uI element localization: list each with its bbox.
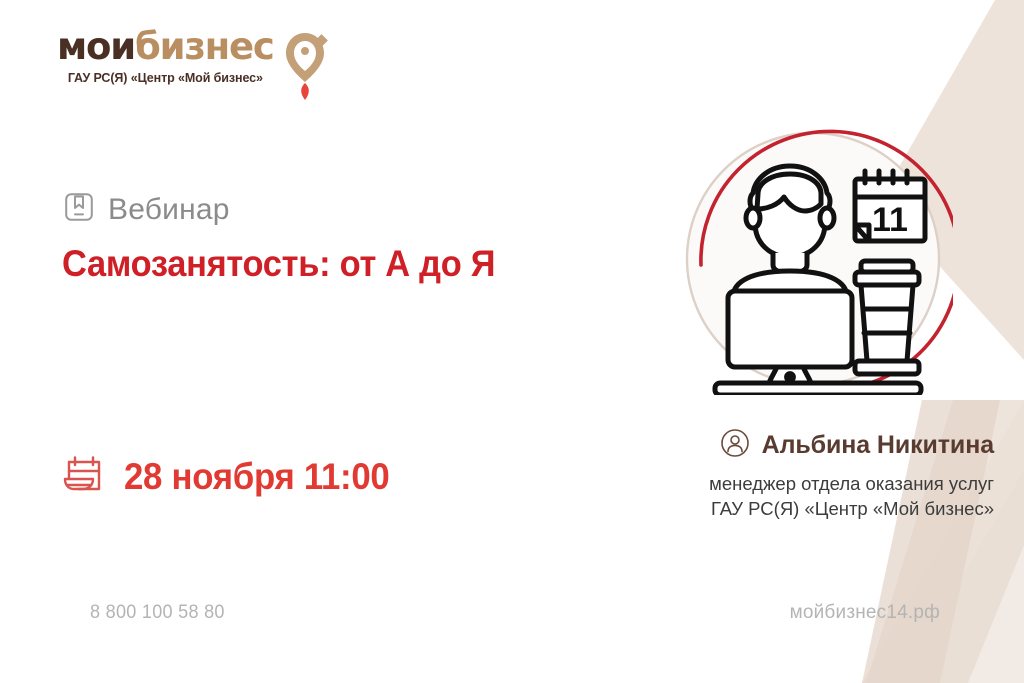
- calendar-day-number: 11: [872, 201, 908, 239]
- speaker-role: менеджер отдела оказания услуг ГАУ РС(Я)…: [709, 472, 994, 521]
- brand-logo-word-secondary: бизнес: [135, 25, 274, 68]
- brand-logo-text: моибизнес ГАУ РС(Я) «Центр «Мой бизнес»: [57, 28, 274, 85]
- decor-shape-band-right: [968, 545, 1024, 683]
- brand-logo-wordmark: моибизнес: [57, 28, 274, 65]
- speaker-role-line-2: ГАУ РС(Я) «Центр «Мой бизнес»: [709, 497, 994, 522]
- contact-phone[interactable]: 8 800 100 58 80: [90, 602, 225, 624]
- event-title: Самозанятость: от А до Я: [62, 243, 495, 286]
- rocket-pin-icon: [282, 30, 328, 107]
- speaker-name: Альбина Никитина: [762, 433, 994, 458]
- person-circle-icon: [720, 428, 750, 463]
- webinar-book-icon: [64, 192, 94, 227]
- webinar-person-monitor-illustration: 11: [683, 113, 953, 395]
- desk-surface: [715, 383, 921, 395]
- event-type-label: Вебинар: [108, 195, 230, 225]
- brand-logo[interactable]: моибизнес ГАУ РС(Я) «Центр «Мой бизнес»: [57, 28, 328, 107]
- event-date-text: 28 ноября 11:00: [124, 458, 389, 495]
- webinar-poster: моибизнес ГАУ РС(Я) «Центр «Мой бизнес» …: [0, 0, 1024, 683]
- speaker-block: Альбина Никитина менеджер отдела оказани…: [709, 428, 994, 521]
- contact-website[interactable]: мойбизнес14.рф: [790, 602, 940, 624]
- calendar-flip-icon: [62, 452, 106, 501]
- event-date-row: 28 ноября 11:00: [62, 452, 406, 501]
- brand-logo-word-primary: мои: [57, 25, 135, 68]
- event-type-row: Вебинар: [64, 192, 230, 227]
- brand-logo-subtitle: ГАУ РС(Я) «Центр «Мой бизнес»: [68, 71, 263, 85]
- speaker-role-line-1: менеджер отдела оказания услуг: [709, 472, 994, 497]
- coffee-cup-icon: [855, 261, 919, 374]
- speaker-name-row: Альбина Никитина: [709, 428, 994, 463]
